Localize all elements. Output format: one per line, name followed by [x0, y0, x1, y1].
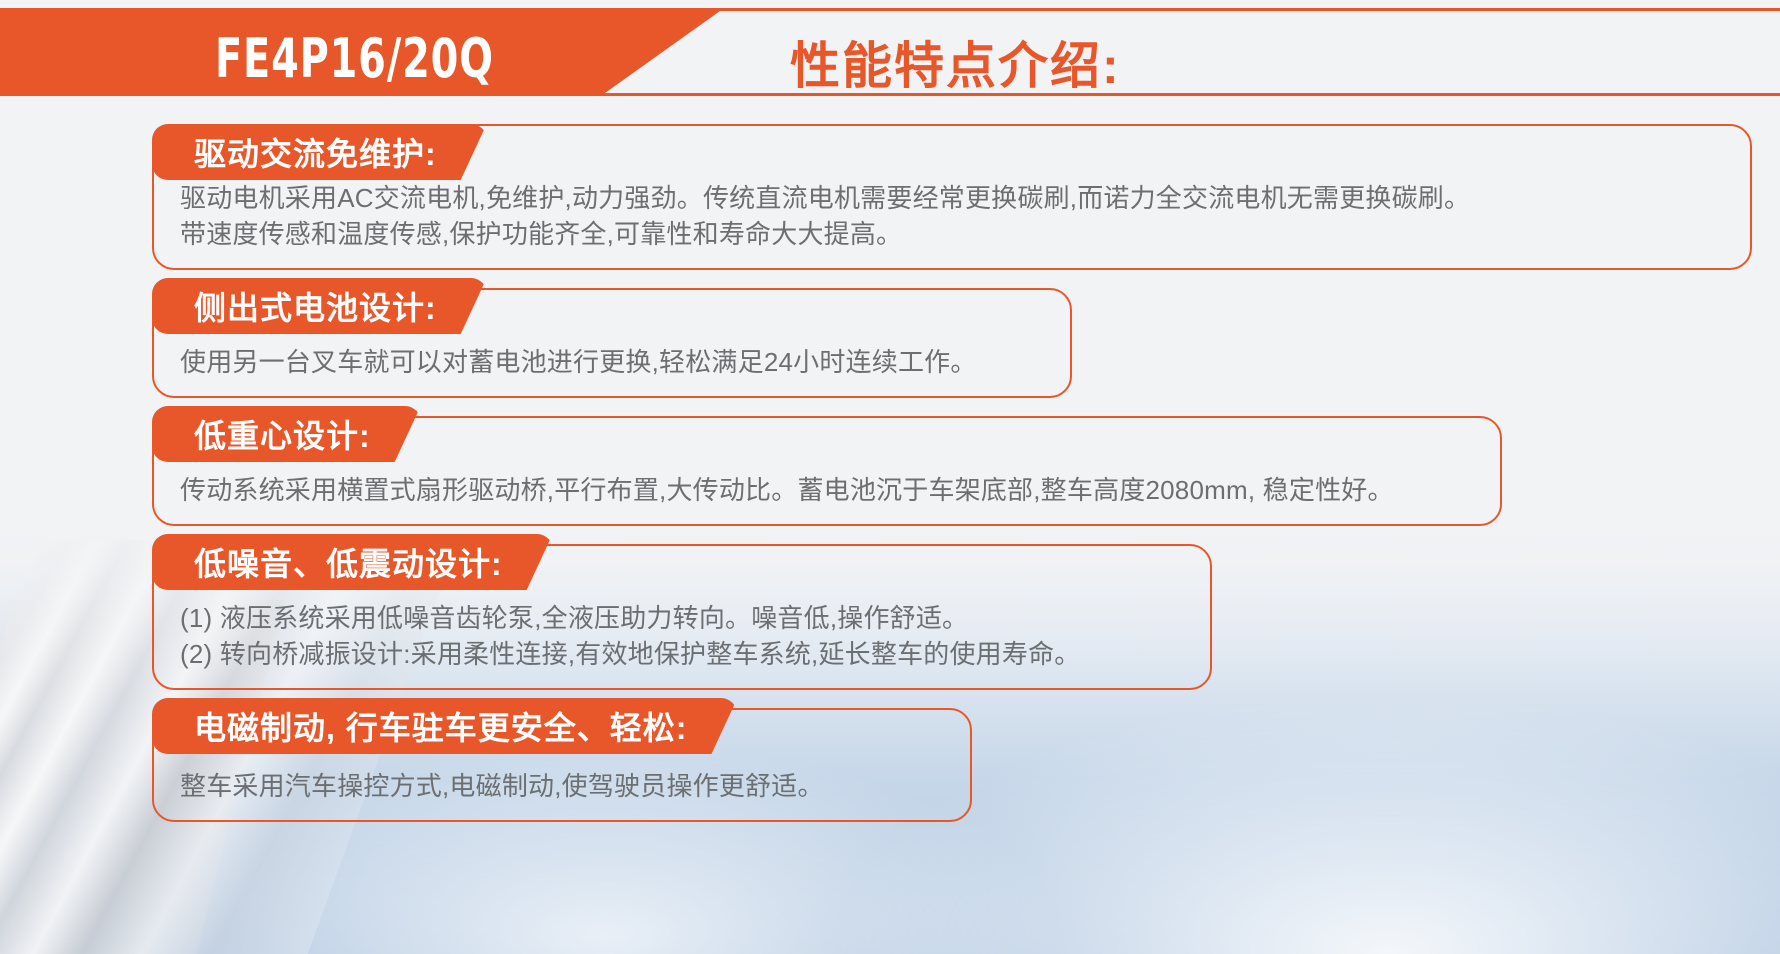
feature-item: 侧出式电池设计: 使用另一台叉车就可以对蓄电池进行更换,轻松满足24小时连续工作… [0, 288, 1780, 398]
feature-description: 驱动电机采用AC交流电机,免维护,动力强劲。传统直流电机需要经常更换碳刷,而诺力… [180, 180, 1724, 252]
feature-item: 低重心设计: 传动系统采用横置式扇形驱动桥,平行布置,大传动比。蓄电池沉于车架底… [0, 416, 1780, 526]
feature-description: 传动系统采用横置式扇形驱动桥,平行布置,大传动比。蓄电池沉于车架底部,整车高度2… [180, 472, 1474, 508]
feature-label-badge: 电磁制动, 行车驻车更安全、轻松: [152, 698, 737, 754]
page-header: FE4P16/20Q 性能特点介绍: [0, 8, 1780, 96]
feature-label-badge: 侧出式电池设计: [152, 278, 487, 334]
header-rule-top [0, 8, 1780, 11]
feature-label-badge: 低重心设计: [152, 406, 421, 462]
feature-item: 低噪音、低震动设计: (1) 液压系统采用低噪音齿轮泵,全液压助力转向。噪音低,… [0, 544, 1780, 690]
feature-description: (1) 液压系统采用低噪音齿轮泵,全液压助力转向。噪音低,操作舒适。 (2) 转… [180, 600, 1184, 672]
feature-list: 驱动交流免维护: 驱动电机采用AC交流电机,免维护,动力强劲。传统直流电机需要经… [0, 96, 1780, 822]
feature-description: 整车采用汽车操控方式,电磁制动,使驾驶员操作更舒适。 [180, 768, 944, 804]
slide-page: FE4P16/20Q 性能特点介绍: 驱动交流免维护: 驱动电机采用AC交流电机… [0, 0, 1780, 954]
model-code: FE4P16/20Q [215, 27, 494, 90]
feature-item: 电磁制动, 行车驻车更安全、轻松: 整车采用汽车操控方式,电磁制动,使驾驶员操作… [0, 708, 1780, 822]
feature-item: 驱动交流免维护: 驱动电机采用AC交流电机,免维护,动力强劲。传统直流电机需要经… [0, 124, 1780, 270]
feature-label-badge: 低噪音、低震动设计: [152, 534, 553, 590]
page-title: 性能特点介绍: [790, 26, 1121, 98]
feature-label-badge: 驱动交流免维护: [152, 124, 487, 180]
feature-description: 使用另一台叉车就可以对蓄电池进行更换,轻松满足24小时连续工作。 [180, 344, 1044, 380]
